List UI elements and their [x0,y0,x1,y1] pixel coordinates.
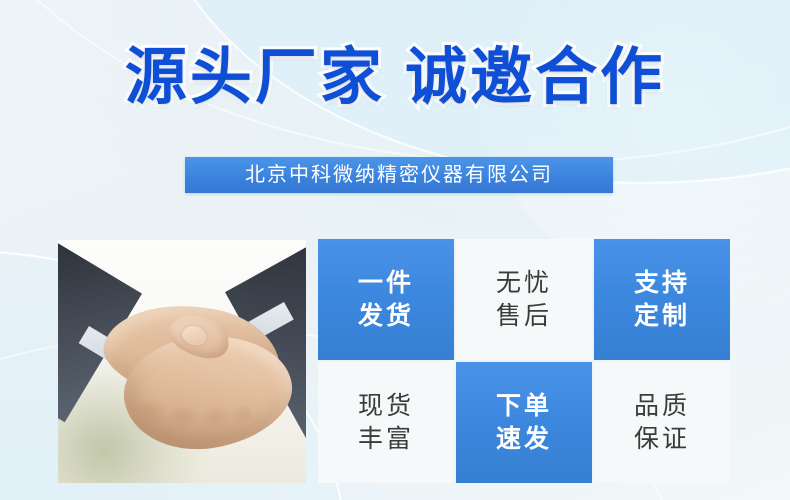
feature-grid: 一件 发货 无忧 售后 支持 定制 现货 丰富 下单 速发 品质 保证 [318,239,730,483]
feature-cell-xiadan-sufa: 下单 速发 [456,362,592,483]
headline-title: 源头厂家 诚邀合作 [0,42,790,114]
feature-cell-zhichi-dingzhi: 支持 定制 [594,239,730,360]
feature-cell-wuyou-shouhou: 无忧 售后 [456,239,592,360]
company-name-bar: 北京中科微纳精密仪器有限公司 [185,157,613,193]
promo-banner: 源头厂家 诚邀合作 北京中科微纳精密仪器有限公司 一件 发货 无忧 售后 支持 … [0,0,790,500]
feature-cell-pinzhi-baozheng: 品质 保证 [594,362,730,483]
feature-cell-yijian-fahuo: 一件 发货 [318,239,454,360]
handshake-photo [58,240,306,483]
feature-cell-xianhuo-fengfu: 现货 丰富 [318,362,454,483]
